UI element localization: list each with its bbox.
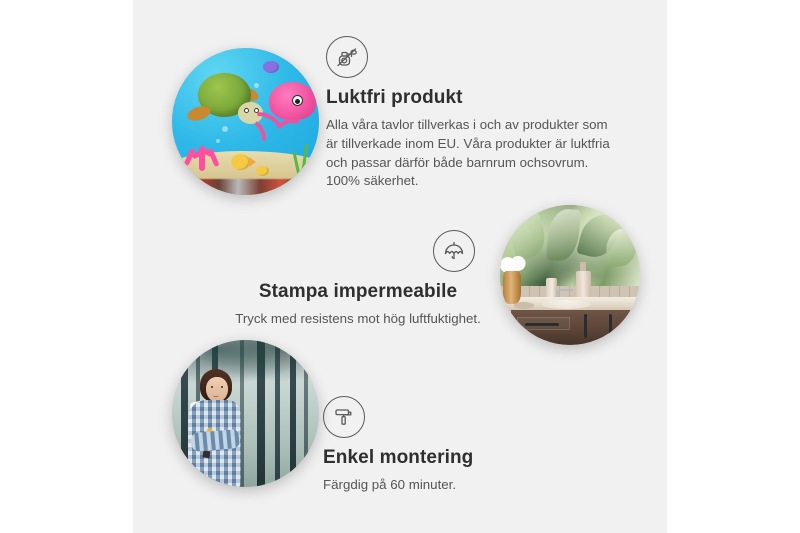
underwater-cartoon-photo: [172, 48, 319, 195]
no-fragrance-icon: [326, 36, 368, 78]
woman-smile: [213, 394, 219, 397]
feature-enkel-montering: Enkel montering Färgdig på 60 minuter.: [323, 396, 573, 495]
forest-canopy: [172, 340, 319, 390]
woman-face: [206, 377, 228, 402]
feature-stampa-impermeabile: Stampa impermeabile Tryck med resistens …: [193, 230, 523, 329]
yellow-fish-icon: [231, 154, 250, 170]
sink-basin: [542, 300, 590, 308]
octopus-eye: [292, 95, 303, 106]
coral: [181, 130, 225, 171]
paint-roller-icon: [323, 396, 365, 438]
small-fish-icon: [256, 166, 269, 176]
woman-eye: [221, 386, 223, 388]
screenshot-stage: Luktfri produkt Alla våra tavlor tillver…: [0, 0, 800, 533]
woman-paint-roller-forest-photo: [172, 340, 319, 487]
content-panel: Luktfri produkt Alla våra tavlor tillver…: [133, 0, 667, 533]
feature-description: Alla våra tavlor tillverkas i och av pro…: [326, 116, 618, 192]
feature-title: Luktfri produkt: [326, 87, 618, 110]
cabinet-handle: [584, 314, 587, 338]
feature-luktfri-produkt: Luktfri produkt Alla våra tavlor tillver…: [326, 36, 618, 191]
feature-title: Enkel montering: [323, 447, 573, 470]
feature-title: Stampa impermeabile: [193, 281, 523, 304]
feature-description: Färgdig på 60 minuter.: [323, 476, 573, 495]
woman-eye: [211, 386, 213, 388]
photo-bottom-strip: [172, 179, 319, 195]
umbrella-icon: [433, 230, 475, 272]
feature-description: Tryck med resistens mot hög luftfuktighe…: [193, 310, 523, 329]
cabinet-handle: [609, 314, 612, 338]
drawer-handle: [525, 323, 559, 326]
